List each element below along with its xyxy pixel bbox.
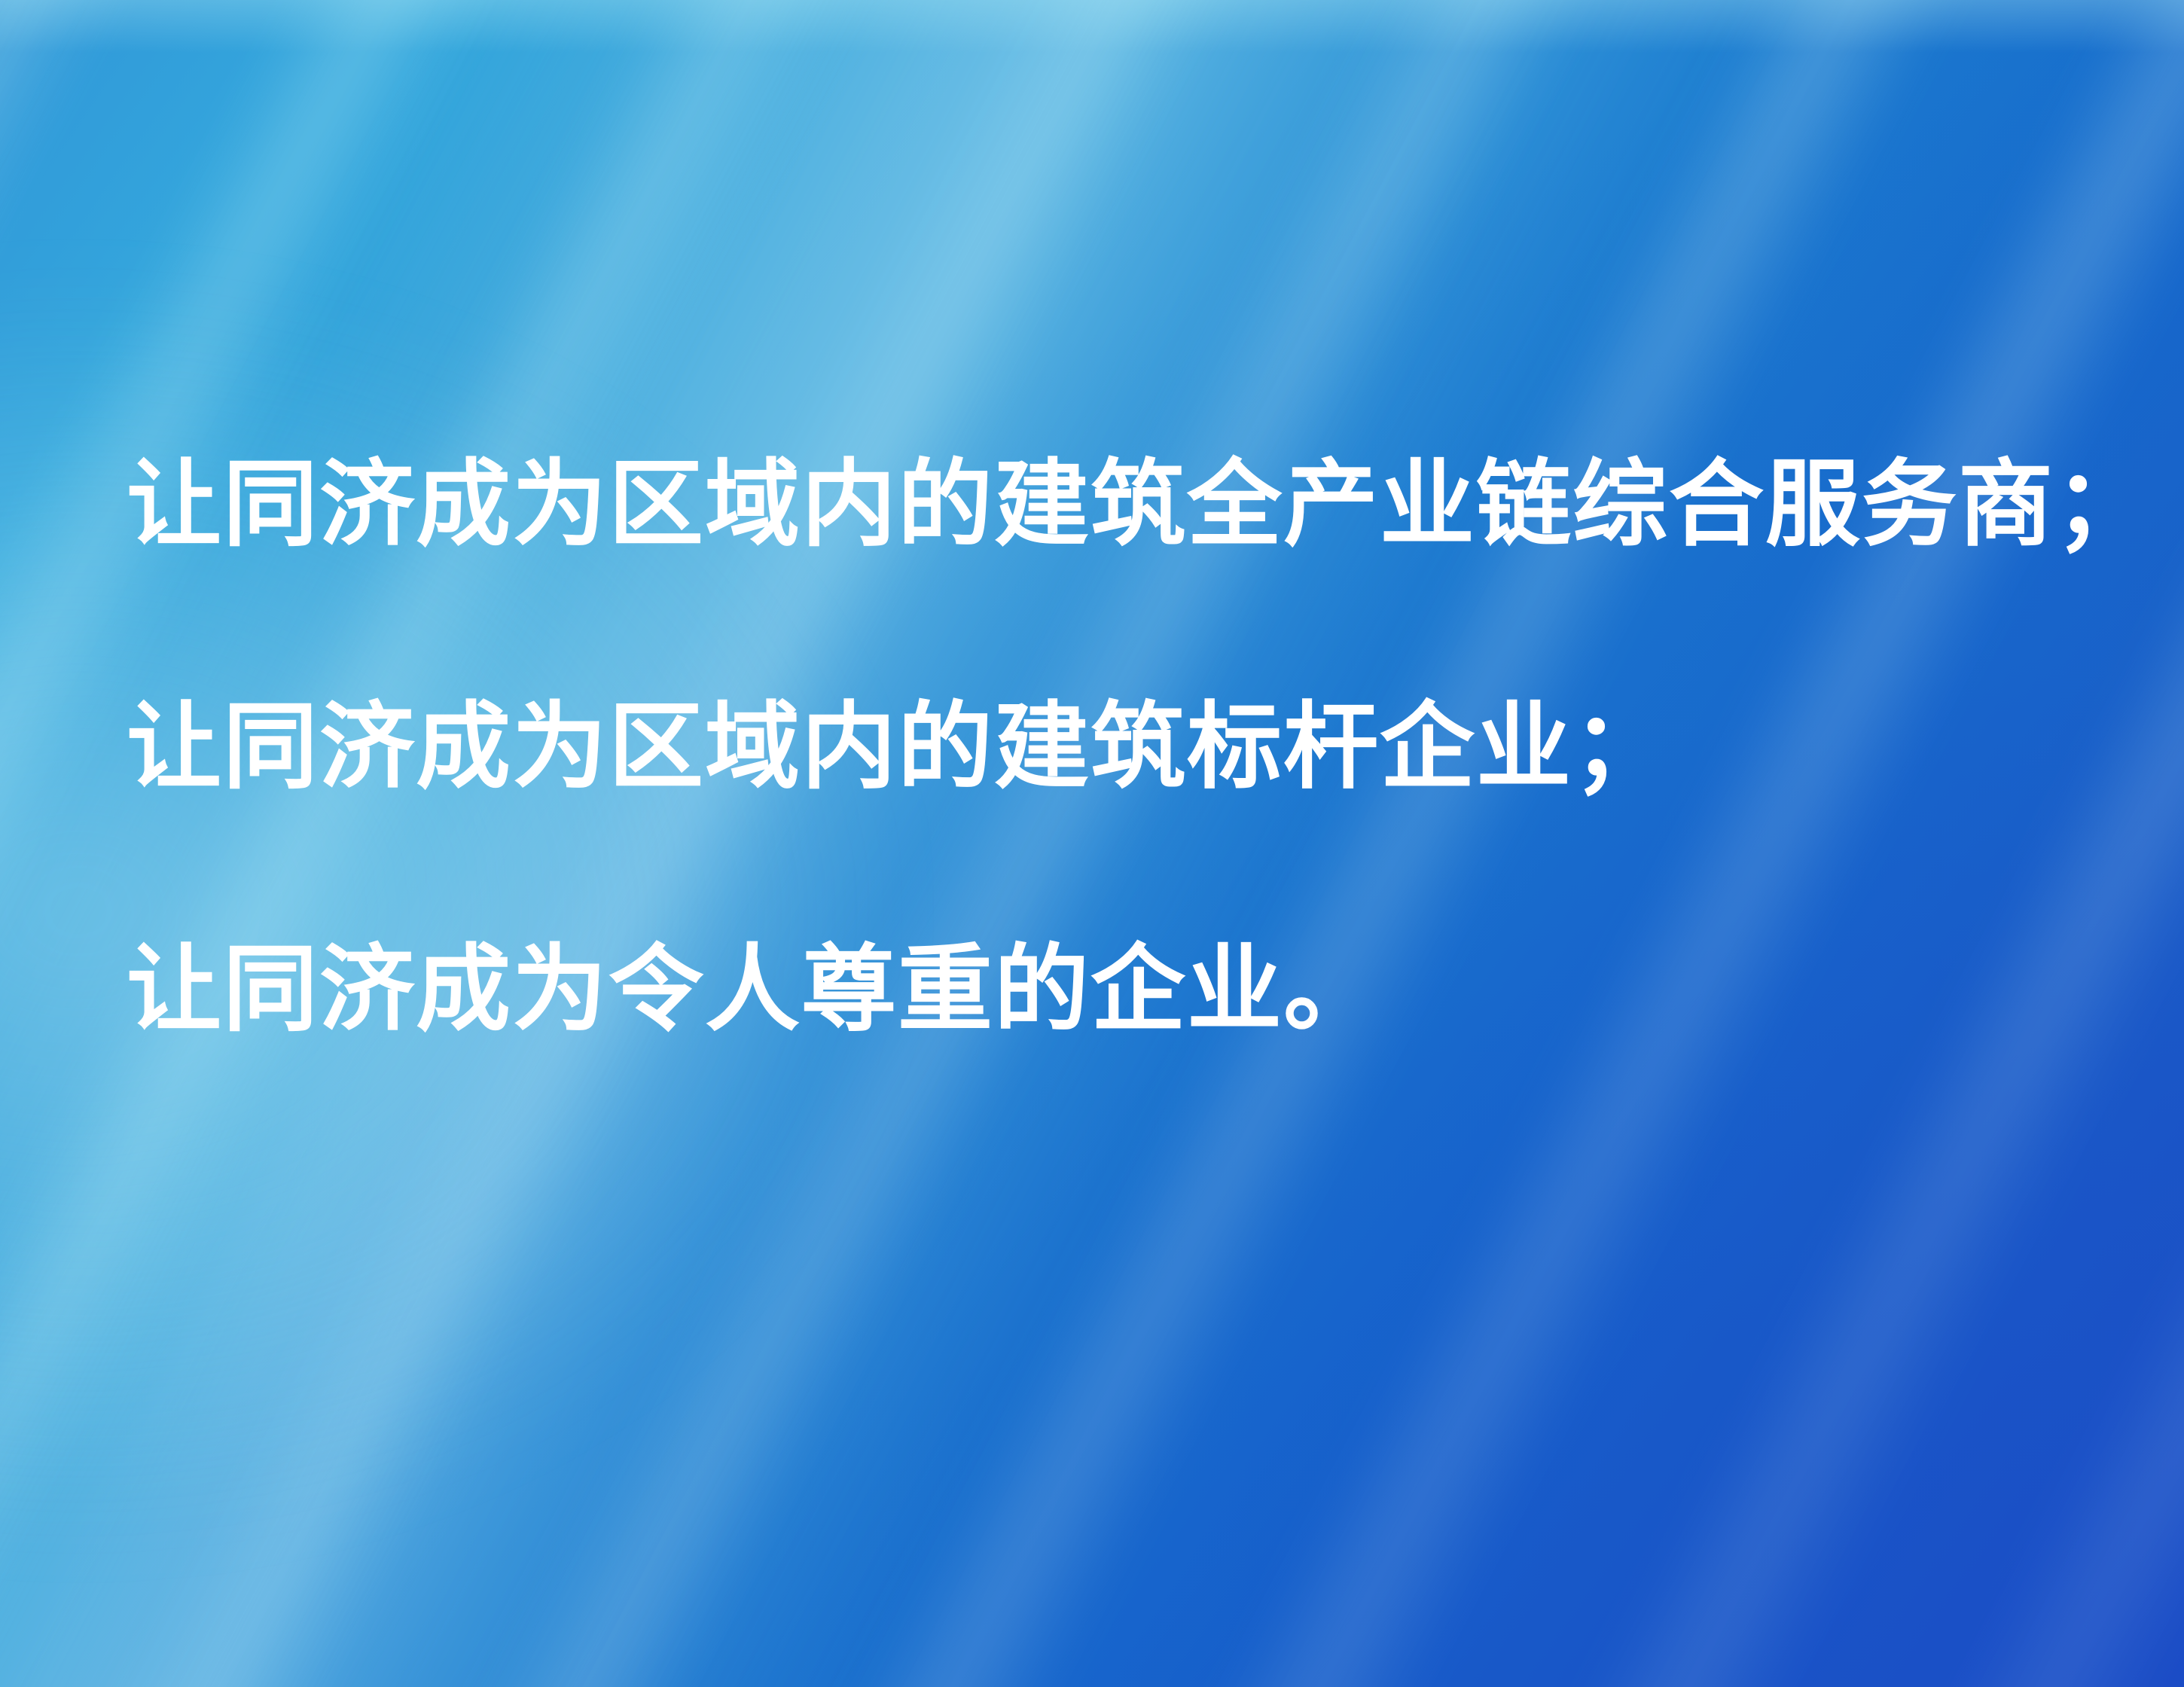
slogan-text-block: 让同济成为区域内的建筑全产业链综合服务商； 让同济成为区域内的建筑标杆企业； 让… (127, 456, 2085, 1036)
top-edge-sheen (0, 0, 2184, 53)
slogan-line-1: 让同济成为区域内的建筑全产业链综合服务商； (127, 456, 2085, 551)
slide-canvas: 让同济成为区域内的建筑全产业链综合服务商； 让同济成为区域内的建筑标杆企业； 让… (0, 0, 2184, 1687)
slogan-line-2: 让同济成为区域内的建筑标杆企业； (127, 699, 2085, 794)
slogan-line-3: 让同济成为令人尊重的企业。 (127, 941, 2085, 1036)
